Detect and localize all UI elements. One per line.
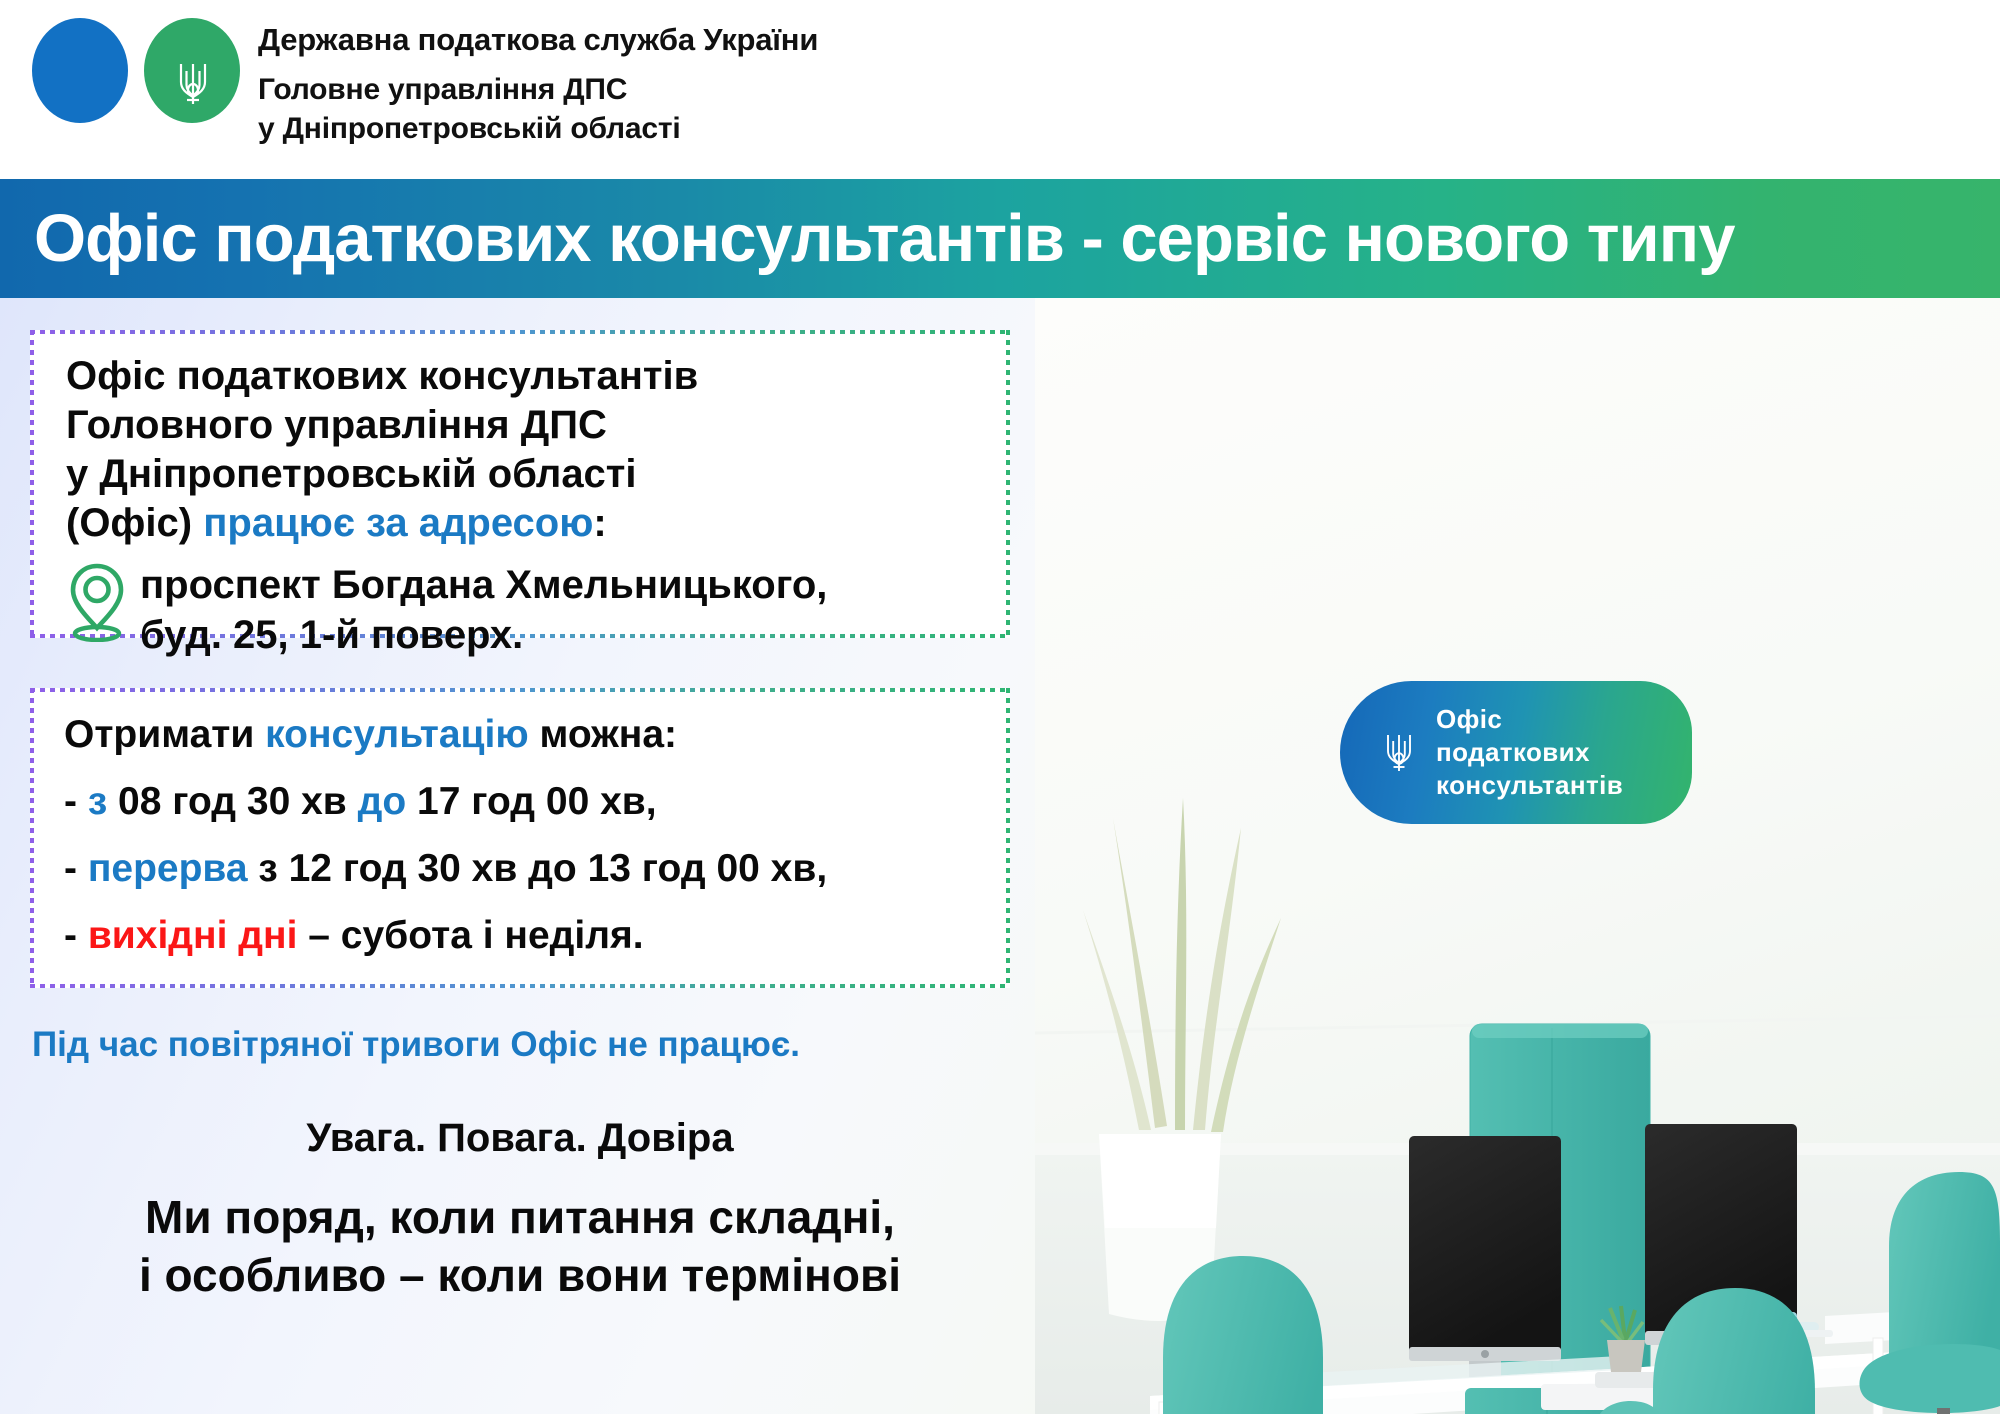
working-hours-box: Отримати консультацію можна: - з 08 год … — [30, 688, 1010, 988]
hours-row-weekend: - вихідні дні – субота і неділя. — [64, 913, 994, 958]
row3-weekend-days: – субота і неділя. — [297, 914, 643, 957]
row1-to-accent: до — [358, 780, 407, 823]
slogan-motto-line1: Ми поряд, коли питання складні, — [0, 1188, 1040, 1246]
break-accent: перерва — [88, 847, 248, 890]
content-area: Офіс податкових консультантів Головного … — [0, 298, 2000, 1414]
slogan-values: Увага. Повага. Довіра — [0, 1116, 1040, 1161]
org-name-line3: у Дніпропетровській області — [258, 109, 818, 148]
title-banner: Офіс податкових консультантів - сервіс н… — [0, 179, 2000, 298]
address-building: буд. 25, 1-й поверх. — [140, 610, 827, 660]
badge-line1: Офіс — [1436, 703, 1623, 736]
address-street: проспект Богдана Хмельницького, — [140, 560, 827, 610]
slogan-motto-line2: і особливо – коли вони термінові — [0, 1246, 1040, 1304]
hours-row-weekday: - з 08 год 30 хв до 17 год 00 хв, — [64, 779, 994, 824]
air-alarm-note: Під час повітряної тривоги Офіс не працю… — [32, 1025, 800, 1065]
hours-heading-suffix: можна: — [529, 713, 677, 756]
office-badge: Офіс податкових консультантів — [1340, 681, 1692, 824]
page-header: Державна податкова служба України Головн… — [0, 0, 2000, 179]
office-photo — [1035, 298, 2000, 1414]
office-description: Офіс податкових консультантів Головного … — [66, 352, 986, 548]
row1-start-time: 08 год 30 хв — [107, 780, 357, 823]
hours-row-break: - перерва з 12 год 30 хв до 13 год 00 хв… — [64, 846, 994, 891]
works-at-address-accent: працює за адресою — [203, 501, 593, 545]
hours-border-bottom — [30, 984, 1010, 988]
slogan-motto: Ми поряд, коли питання складні, і особли… — [0, 1188, 1040, 1304]
badge-label: Офіс податкових консультантів — [1436, 703, 1623, 802]
office-desc-line4-prefix: (Офіс) — [66, 501, 203, 545]
map-pin-icon — [66, 562, 128, 642]
trident-icon — [1382, 730, 1416, 776]
header-text-block: Державна податкова служба України Головн… — [258, 20, 818, 148]
row2-break-time: з 12 год 30 хв до 13 год 00 хв, — [248, 847, 828, 890]
left-column: Офіс податкових консультантів Головного … — [0, 298, 1040, 1414]
hours-border-top — [30, 688, 1010, 692]
hours-heading: Отримати консультацію можна: — [64, 712, 994, 757]
row3-dash: - — [64, 914, 88, 957]
blue-circle-icon — [32, 18, 128, 123]
badge-line3: консультантів — [1436, 769, 1623, 802]
office-desc-line1: Офіс податкових консультантів — [66, 352, 986, 401]
office-desc-line4: (Офіс) працює за адресою: — [66, 499, 986, 548]
org-name-line2: Головне управління ДПС — [258, 70, 818, 109]
office-desc-line4-suffix: : — [593, 501, 606, 545]
address-row: проспект Богдана Хмельницького, буд. 25,… — [66, 560, 827, 660]
hours-border-left — [30, 688, 34, 988]
trident-icon — [174, 58, 212, 110]
office-desc-line2: Головного управління ДПС — [66, 401, 986, 450]
row1-from-accent: з — [88, 780, 107, 823]
address-info-box: Офіс податкових консультантів Головного … — [30, 330, 1010, 638]
hours-border-right — [1006, 688, 1010, 988]
hours-heading-prefix: Отримати — [64, 713, 265, 756]
poster-root: Державна податкова служба України Головн… — [0, 0, 2000, 1414]
organization-logo — [32, 18, 232, 123]
box-border-left — [30, 330, 34, 638]
box-border-right — [1006, 330, 1010, 638]
office-photo-illustration — [1035, 298, 2000, 1414]
address-text: проспект Богдана Хмельницького, буд. 25,… — [140, 560, 827, 660]
box-border-top — [30, 330, 1010, 334]
badge-line2: податкових — [1436, 736, 1623, 769]
row2-dash: - — [64, 847, 88, 890]
banner-title-text: Офіс податкових консультантів - сервіс н… — [34, 200, 1734, 277]
hours-list: Отримати консультацію можна: - з 08 год … — [64, 712, 994, 958]
consultation-accent: консультацію — [265, 713, 528, 756]
org-name-line1: Державна податкова служба України — [258, 20, 818, 60]
weekend-accent: вихідні дні — [88, 914, 298, 957]
office-desc-line3: у Дніпропетровській області — [66, 450, 986, 499]
row1-dash: - — [64, 780, 88, 823]
row1-end-time: 17 год 00 хв, — [406, 780, 656, 823]
